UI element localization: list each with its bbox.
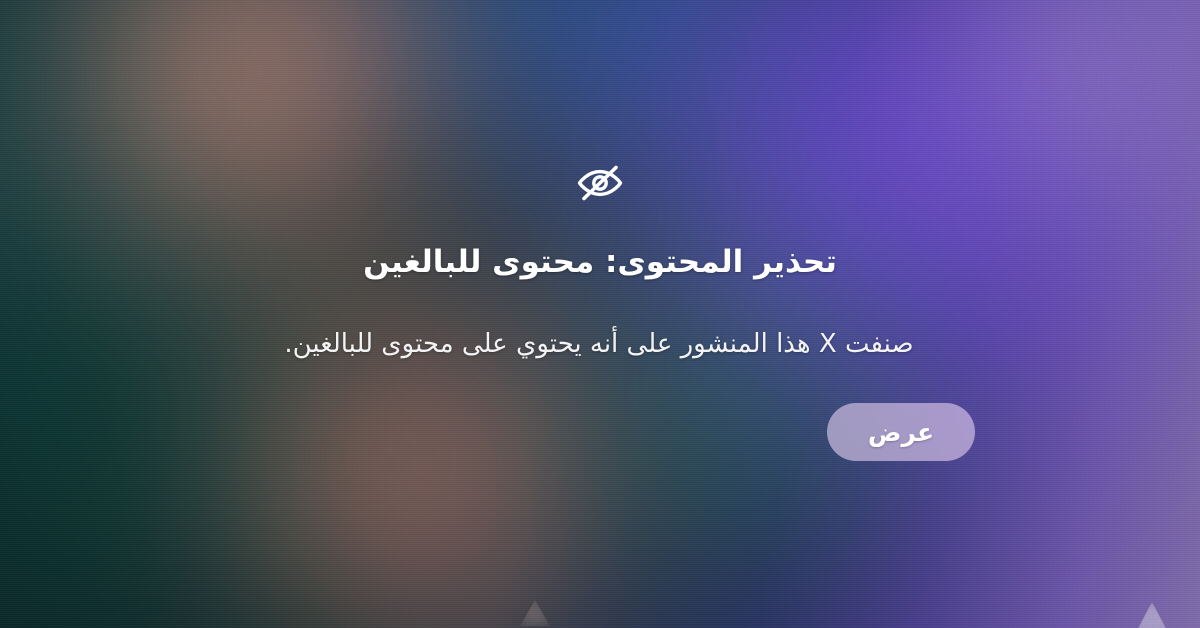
warning-title: تحذير المحتوى: محتوى للبالغين xyxy=(0,243,1200,282)
warning-actions: عرض xyxy=(223,403,975,461)
view-button[interactable]: عرض xyxy=(827,403,975,461)
warning-overlay: تحذير المحتوى: محتوى للبالغين صنفت X هذا… xyxy=(0,0,1200,628)
content-warning-screen: تحذير المحتوى: محتوى للبالغين صنفت X هذا… xyxy=(0,0,1200,628)
eye-off-icon xyxy=(574,158,626,208)
warning-subtitle: صنفت X هذا المنشور على أنه يحتوي على محت… xyxy=(223,327,975,362)
